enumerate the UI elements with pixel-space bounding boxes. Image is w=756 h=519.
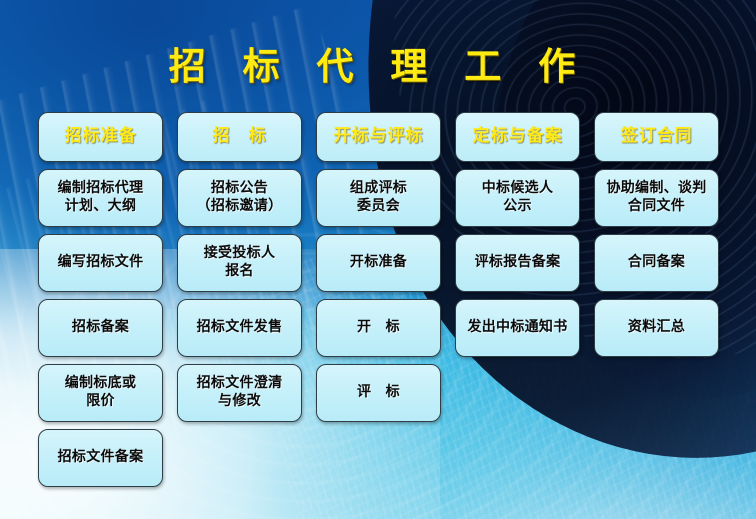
flow-step-label: 接受投标人报名 bbox=[204, 245, 276, 281]
slide-title: 招 标 代 理 工 作 bbox=[0, 36, 756, 90]
flow-step-label: 合同备案 bbox=[628, 254, 685, 272]
flow-step-label: 评 标 bbox=[357, 384, 400, 402]
flow-step-box[interactable]: 招标文件澄清与修改 bbox=[177, 364, 302, 422]
flow-column-header[interactable]: 招 标 bbox=[177, 112, 302, 162]
flow-step-box[interactable]: 招标文件备案 bbox=[38, 429, 163, 487]
flow-step-box[interactable]: 合同备案 bbox=[594, 234, 719, 292]
flow-column-5: 签订合同协助编制、谈判合同文件合同备案资料汇总 bbox=[594, 112, 719, 487]
flow-column-header-label: 招标准备 bbox=[65, 127, 137, 147]
flow-step-label: 编制标底或限价 bbox=[65, 375, 137, 411]
flow-column-3: 开标与评标组成评标委员会开标准备开 标评 标 bbox=[316, 112, 441, 487]
flow-column-2: 招 标招标公告（招标邀请）接受投标人报名招标文件发售招标文件澄清与修改 bbox=[177, 112, 302, 487]
flow-step-box[interactable]: 编写招标文件 bbox=[38, 234, 163, 292]
flow-step-label: 编写招标文件 bbox=[58, 254, 144, 272]
flow-step-label: 招标备案 bbox=[72, 319, 129, 337]
flow-step-label: 开 标 bbox=[357, 319, 400, 337]
flow-step-box[interactable]: 组成评标委员会 bbox=[316, 169, 441, 227]
flow-step-box[interactable]: 开标准备 bbox=[316, 234, 441, 292]
flow-step-box[interactable]: 招标公告（招标邀请） bbox=[177, 169, 302, 227]
flow-step-label: 招标公告（招标邀请） bbox=[197, 180, 283, 216]
flow-step-label: 招标文件发售 bbox=[197, 319, 283, 337]
flow-step-label: 协助编制、谈判合同文件 bbox=[606, 180, 706, 216]
flow-step-label: 资料汇总 bbox=[628, 319, 685, 337]
flow-column-header-label: 签订合同 bbox=[621, 127, 693, 147]
flow-column-header[interactable]: 开标与评标 bbox=[316, 112, 441, 162]
flow-step-box[interactable]: 招标备案 bbox=[38, 299, 163, 357]
flow-step-box[interactable]: 发出中标通知书 bbox=[455, 299, 580, 357]
flow-column-1: 招标准备编制招标代理计划、大纲编写招标文件招标备案编制标底或限价招标文件备案 bbox=[38, 112, 163, 487]
flow-step-label: 中标候选人公示 bbox=[482, 180, 554, 216]
flow-step-label: 招标文件备案 bbox=[58, 449, 144, 467]
flow-step-box[interactable]: 编制标底或限价 bbox=[38, 364, 163, 422]
flow-step-box[interactable]: 协助编制、谈判合同文件 bbox=[594, 169, 719, 227]
flow-step-box[interactable]: 资料汇总 bbox=[594, 299, 719, 357]
flow-step-box[interactable]: 接受投标人报名 bbox=[177, 234, 302, 292]
flow-column-header-label: 招 标 bbox=[213, 127, 267, 147]
flow-step-label: 招标文件澄清与修改 bbox=[197, 375, 283, 411]
process-flow-chart: 招标准备编制招标代理计划、大纲编写招标文件招标备案编制标底或限价招标文件备案招 … bbox=[38, 112, 728, 487]
flow-step-box[interactable]: 开 标 bbox=[316, 299, 441, 357]
flow-column-header-label: 定标与备案 bbox=[473, 127, 563, 147]
flow-step-label: 组成评标委员会 bbox=[350, 180, 407, 216]
flow-step-box[interactable]: 中标候选人公示 bbox=[455, 169, 580, 227]
slide-canvas: 招 标 代 理 工 作 招标准备编制招标代理计划、大纲编写招标文件招标备案编制标… bbox=[0, 0, 756, 519]
flow-column-header[interactable]: 定标与备案 bbox=[455, 112, 580, 162]
flow-step-label: 编制招标代理计划、大纲 bbox=[58, 180, 144, 216]
flow-step-label: 评标报告备案 bbox=[475, 254, 561, 272]
flow-column-header-label: 开标与评标 bbox=[334, 127, 424, 147]
flow-step-box[interactable]: 评标报告备案 bbox=[455, 234, 580, 292]
flow-step-label: 开标准备 bbox=[350, 254, 407, 272]
flow-step-box[interactable]: 评 标 bbox=[316, 364, 441, 422]
flow-column-header[interactable]: 签订合同 bbox=[594, 112, 719, 162]
flow-column-header[interactable]: 招标准备 bbox=[38, 112, 163, 162]
flow-column-4: 定标与备案中标候选人公示评标报告备案发出中标通知书 bbox=[455, 112, 580, 487]
flow-step-box[interactable]: 编制招标代理计划、大纲 bbox=[38, 169, 163, 227]
flow-step-box[interactable]: 招标文件发售 bbox=[177, 299, 302, 357]
flow-step-label: 发出中标通知书 bbox=[467, 319, 567, 337]
